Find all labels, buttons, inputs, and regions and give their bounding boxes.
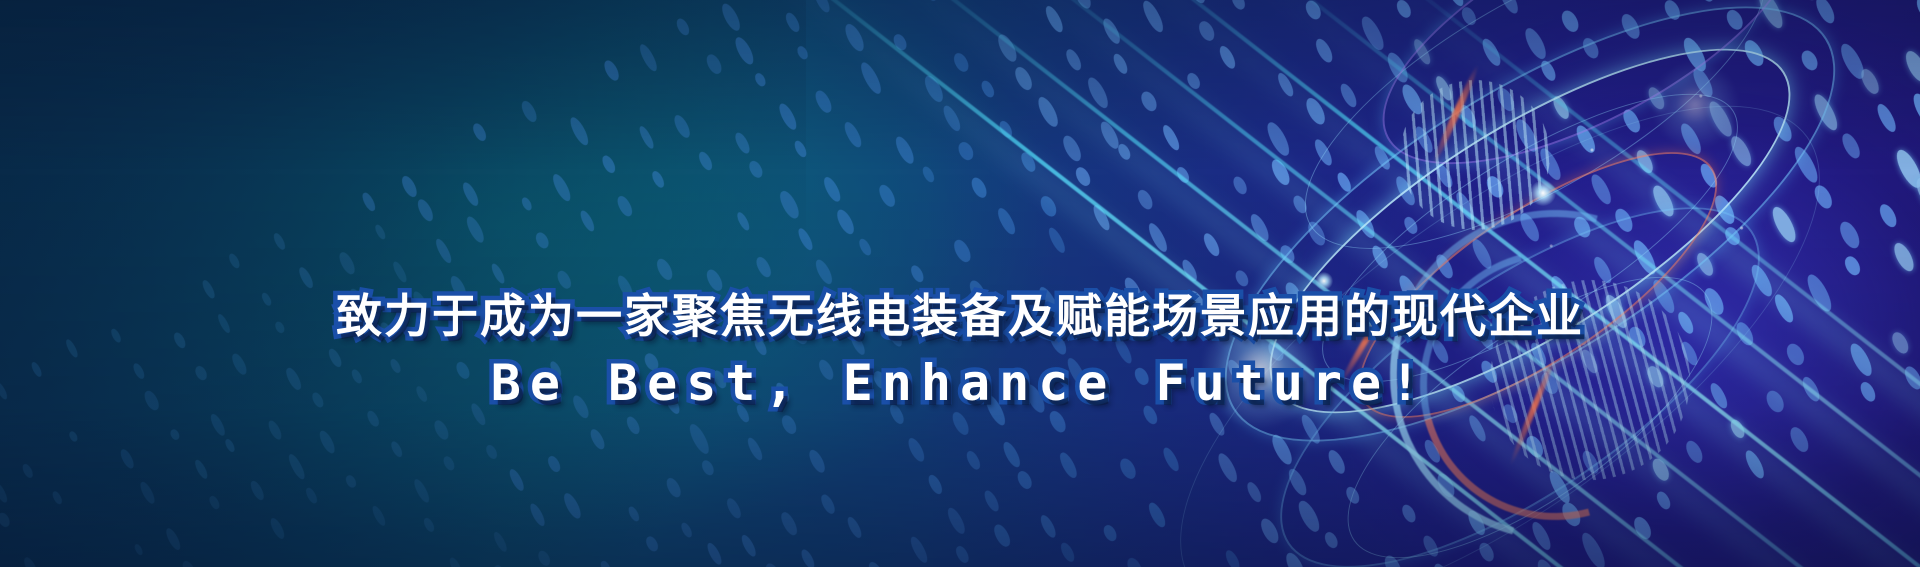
headline-chinese: 致力于成为一家聚焦无线电装备及赋能场景应用的现代企业: [0, 292, 1920, 342]
headline-block: 致力于成为一家聚焦无线电装备及赋能场景应用的现代企业 Be Best, Enha…: [0, 292, 1920, 410]
background-vignette: [0, 0, 1920, 567]
headline-english: Be Best, Enhance Future!: [0, 356, 1920, 410]
hero-banner: 致力于成为一家聚焦无线电装备及赋能场景应用的现代企业 Be Best, Enha…: [0, 0, 1920, 567]
